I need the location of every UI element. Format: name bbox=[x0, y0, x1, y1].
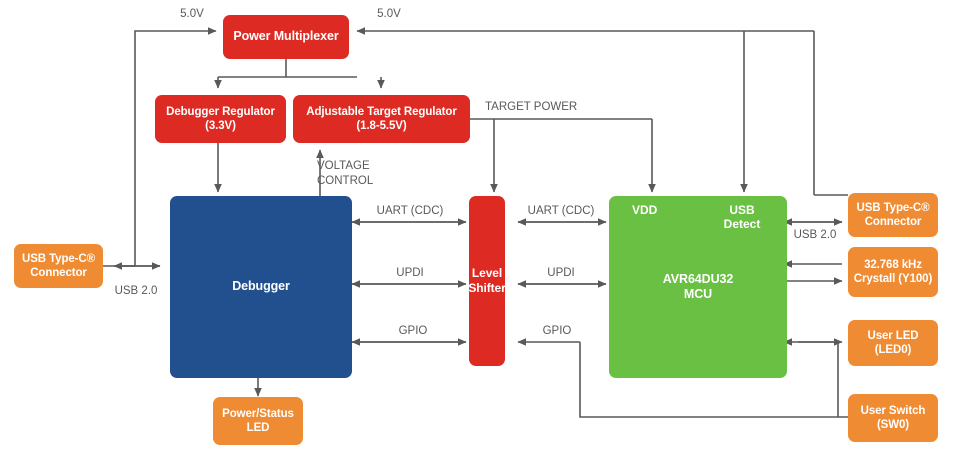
power-multiplexer-label: Power Multiplexer bbox=[233, 29, 338, 44]
block-crystal[interactable]: 32.768 kHz Crystall (Y100) bbox=[848, 247, 938, 297]
block-debugger-regulator[interactable]: Debugger Regulator (3.3V) bbox=[155, 95, 286, 143]
crystal-sublabel: Crystall (Y100) bbox=[854, 272, 932, 286]
block-user-led[interactable]: User LED (LED0) bbox=[848, 320, 938, 366]
mcu-sublabel: MCU bbox=[684, 287, 712, 302]
power-status-led-sublabel: LED bbox=[247, 421, 270, 435]
mcu-label: AVR64DU32 bbox=[663, 272, 733, 287]
usb-detect-line2: Detect bbox=[724, 217, 761, 231]
usb-detect-line1: USB bbox=[729, 203, 754, 217]
user-led-sublabel: (LED0) bbox=[875, 343, 911, 357]
usb-connector-left-sublabel: Connector bbox=[30, 266, 87, 280]
label-5v-left: 5.0V bbox=[180, 7, 204, 22]
usb-connector-right-sublabel: Connector bbox=[865, 215, 922, 229]
user-led-label: User LED bbox=[868, 329, 919, 343]
user-switch-sublabel: (SW0) bbox=[877, 418, 909, 432]
debugger-regulator-sublabel: (3.3V) bbox=[205, 119, 236, 133]
level-shifter-label: Level bbox=[472, 266, 502, 281]
label-uart-cdc-left: UART (CDC) bbox=[377, 204, 444, 219]
label-gpio-left: GPIO bbox=[399, 324, 428, 339]
label-voltage-control: VOLTAGE CONTROL bbox=[317, 159, 373, 188]
label-uart-cdc-right: UART (CDC) bbox=[528, 204, 595, 219]
block-adjustable-target-regulator[interactable]: Adjustable Target Regulator (1.8-5.5V) bbox=[293, 95, 470, 143]
block-power-multiplexer[interactable]: Power Multiplexer bbox=[223, 15, 349, 59]
label-usb20-right: USB 2.0 bbox=[794, 228, 837, 243]
label-updi-left: UPDI bbox=[396, 266, 423, 281]
label-usb20-left: USB 2.0 bbox=[115, 284, 158, 299]
label-target-power: TARGET POWER bbox=[485, 100, 577, 115]
mcu-usb-detect-pin-label: USB Detect bbox=[716, 203, 768, 232]
block-usb-connector-right[interactable]: USB Type-C® Connector bbox=[848, 193, 938, 237]
voltage-control-line2: CONTROL bbox=[317, 175, 373, 187]
block-diagram-canvas: Power Multiplexer Debugger Regulator (3.… bbox=[0, 0, 960, 455]
usb-connector-right-label: USB Type-C® bbox=[857, 201, 930, 215]
debugger-regulator-label: Debugger Regulator bbox=[166, 105, 275, 119]
debugger-label: Debugger bbox=[232, 279, 290, 294]
usb-connector-left-label: USB Type-C® bbox=[22, 252, 95, 266]
block-debugger[interactable]: Debugger bbox=[170, 196, 352, 378]
power-status-led-label: Power/Status bbox=[222, 407, 294, 421]
block-level-shifter[interactable]: Level Shifter bbox=[469, 196, 505, 366]
block-usb-connector-left[interactable]: USB Type-C® Connector bbox=[14, 244, 103, 288]
label-updi-right: UPDI bbox=[547, 266, 574, 281]
label-gpio-right: GPIO bbox=[543, 324, 572, 339]
block-user-switch[interactable]: User Switch (SW0) bbox=[848, 394, 938, 442]
level-shifter-sublabel: Shifter bbox=[468, 281, 505, 296]
user-switch-label: User Switch bbox=[861, 404, 926, 418]
adjustable-target-regulator-sublabel: (1.8-5.5V) bbox=[356, 119, 406, 133]
adjustable-target-regulator-label: Adjustable Target Regulator bbox=[306, 105, 456, 119]
label-5v-right: 5.0V bbox=[377, 7, 401, 22]
voltage-control-line1: VOLTAGE bbox=[317, 160, 370, 172]
block-power-status-led[interactable]: Power/Status LED bbox=[213, 397, 303, 445]
mcu-vdd-pin-label: VDD bbox=[632, 203, 657, 217]
crystal-label: 32.768 kHz bbox=[864, 258, 922, 272]
